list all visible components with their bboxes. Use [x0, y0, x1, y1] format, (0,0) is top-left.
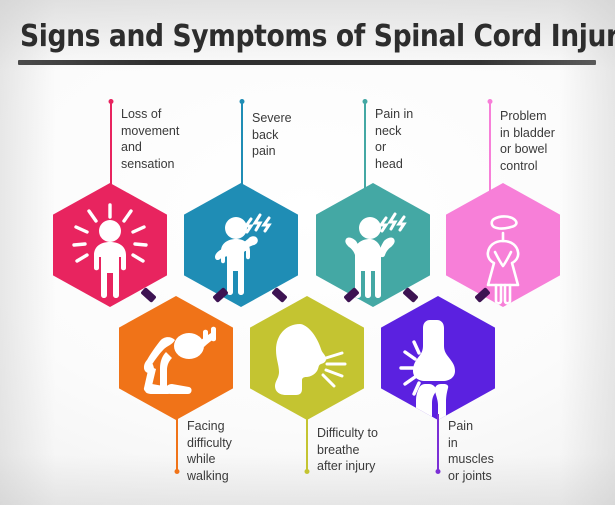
hexagon-pain-in-neck-or-head[interactable]	[316, 183, 430, 307]
label-pain-in-muscles-or-joints: Pain in muscles or joints	[448, 418, 540, 484]
crawling-person-icon	[119, 296, 233, 420]
title-underline-divider	[18, 60, 596, 65]
hexagon-joint-connector	[140, 287, 157, 303]
infographic-canvas: Signs and Symptoms of Spinal Cord Injury…	[0, 0, 615, 505]
header: Signs and Symptoms of Spinal Cord Injury	[0, 0, 615, 72]
connector-dot	[488, 99, 493, 104]
person-holding-back-icon	[184, 183, 298, 307]
hexagon-loss-of-movement-and-sensation[interactable]	[53, 183, 167, 307]
person-with-radiating-pain-icon	[53, 183, 167, 307]
hexagon-pain-in-muscles-or-joints[interactable]	[381, 296, 495, 420]
hexagon-joint-connector	[271, 287, 288, 303]
connector-dot	[305, 469, 310, 474]
connector-line-pain-in-muscles-or-joints	[437, 414, 439, 472]
page-title: Signs and Symptoms of Spinal Cord Injury	[20, 20, 591, 54]
connector-dot	[175, 469, 180, 474]
connector-dot	[109, 99, 114, 104]
hexagon-joint-connector	[402, 287, 419, 303]
head-profile-breathing-icon	[250, 296, 364, 420]
connector-dot	[240, 99, 245, 104]
connector-line-facing-difficulty-while-walking	[176, 414, 178, 472]
bladder-figure-outline-icon	[446, 183, 560, 307]
connector-dot	[363, 99, 368, 104]
knee-joint-pain-icon	[381, 296, 495, 420]
hexagon-severe-back-pain[interactable]	[184, 183, 298, 307]
connector-line-difficulty-to-breathe-after-injury	[306, 414, 308, 472]
label-severe-back-pain: Severe back pain	[252, 110, 336, 160]
person-holding-head-icon	[316, 183, 430, 307]
hexagon-problem-in-bladder-or-bowel-control[interactable]	[446, 183, 560, 307]
label-pain-in-neck-or-head: Pain in neck or head	[375, 106, 459, 172]
label-difficulty-to-breathe-after-injury: Difficulty to breathe after injury	[317, 425, 423, 475]
label-problem-in-bladder-or-bowel-control: Problem in bladder or bowel control	[500, 108, 600, 174]
label-loss-of-movement-and-sensation: Loss of movement and sensation	[121, 106, 211, 172]
label-facing-difficulty-while-walking: Facing difficulty while walking	[187, 418, 277, 484]
connector-dot	[436, 469, 441, 474]
hexagon-difficulty-to-breathe-after-injury[interactable]	[250, 296, 364, 420]
hexagon-facing-difficulty-while-walking[interactable]	[119, 296, 233, 420]
